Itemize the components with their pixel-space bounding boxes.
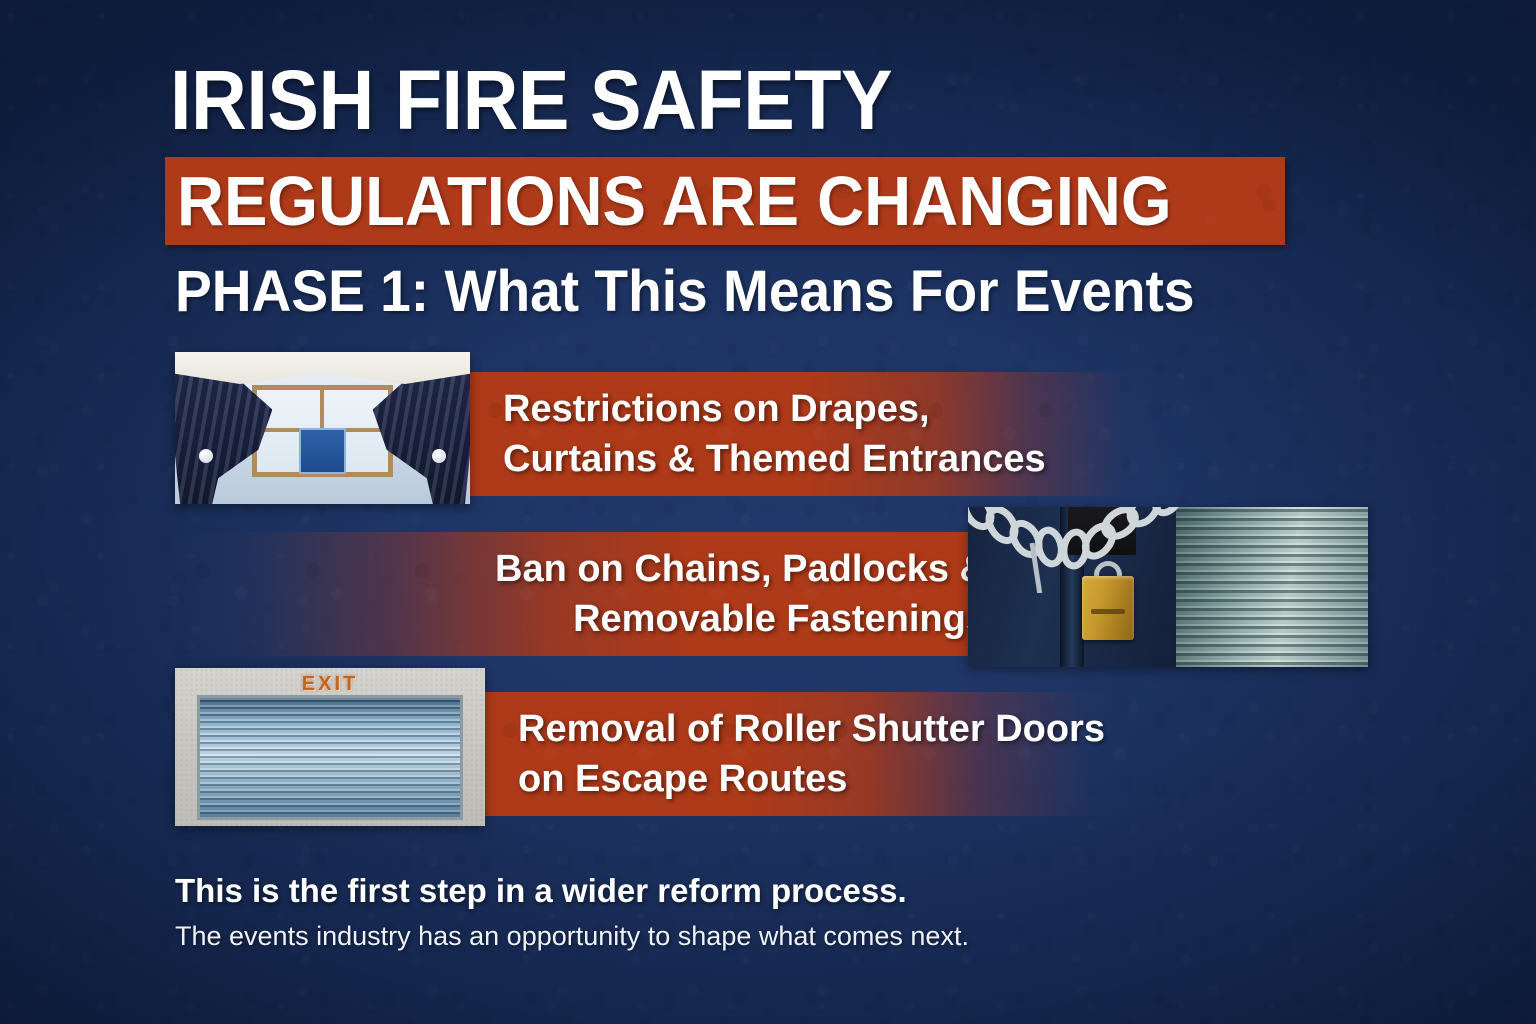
curtains-door-icon	[299, 428, 346, 474]
feature-band-chains: Ban on Chains, Padlocks & Removable Fast…	[175, 532, 1005, 656]
feature-label-drapes: Restrictions on Drapes, Curtains & Theme…	[503, 384, 1046, 484]
feature-image-drapes	[175, 352, 470, 504]
feature-label-chains: Ban on Chains, Padlocks & Removable Fast…	[495, 544, 987, 644]
feature-image-shutters: EXIT	[175, 668, 485, 826]
roller-shutter-icon	[197, 695, 464, 820]
feature-band-shutters: Removal of Roller Shutter Doors on Escap…	[483, 692, 1143, 816]
chain-icon	[968, 507, 1192, 593]
exit-sign-label: EXIT	[175, 673, 485, 696]
footer-headline: This is the first step in a wider reform…	[175, 872, 907, 910]
feature-image-chains	[968, 507, 1368, 667]
headline-line-2: REGULATIONS ARE CHANGING	[177, 161, 1172, 241]
padlock-shutter-backdrop	[1176, 507, 1368, 667]
headline-accent-band: REGULATIONS ARE CHANGING	[165, 157, 1285, 245]
headline-line-1: IRISH FIRE SAFETY	[170, 52, 892, 149]
padlock-body-icon	[1082, 576, 1134, 640]
infographic-poster: IRISH FIRE SAFETY REGULATIONS ARE CHANGI…	[0, 0, 1536, 1024]
curtain-tieback-left-icon	[199, 449, 213, 463]
footer-subtext: The events industry has an opportunity t…	[175, 921, 969, 952]
feature-band-drapes: Restrictions on Drapes, Curtains & Theme…	[468, 372, 1173, 496]
feature-label-shutters: Removal of Roller Shutter Doors on Escap…	[518, 704, 1105, 804]
headline-phase-subtitle: PHASE 1: What This Means For Events	[175, 258, 1195, 325]
